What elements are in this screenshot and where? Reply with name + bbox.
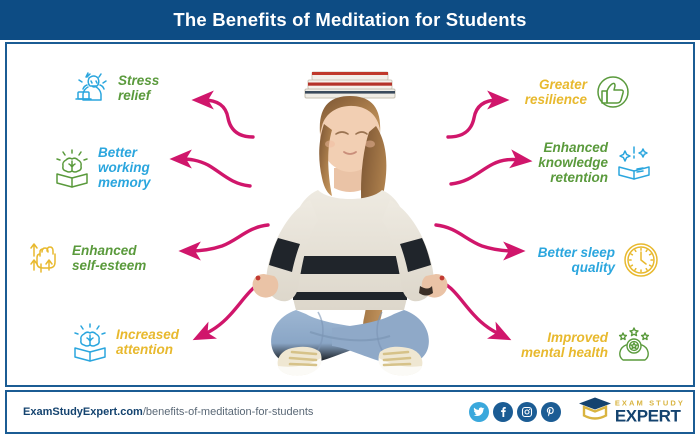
- pinterest-icon[interactable]: [541, 402, 561, 422]
- thumbs-up-circle-icon: [593, 72, 633, 112]
- benefit-label: Better sleep quality: [520, 245, 615, 275]
- meditating-student-photo: [248, 60, 453, 387]
- url-domain: ExamStudyExpert.com: [23, 406, 143, 418]
- benefit-label: Greater resilience: [502, 77, 587, 107]
- footer-bar: ExamStudyExpert.com/benefits-of-meditati…: [5, 390, 695, 434]
- facebook-icon[interactable]: [493, 402, 513, 422]
- infographic-poster: The Benefits of Meditation for Students: [0, 0, 700, 438]
- benefit-label: Improved mental health: [500, 330, 608, 360]
- benefit-label: Better working memory: [98, 145, 151, 190]
- sparkling-book-icon: [614, 143, 654, 183]
- brain-book-icon: [52, 148, 92, 188]
- stressed-person-laptop-icon: [72, 68, 112, 108]
- benefit-label: Enhanced knowledge retention: [508, 140, 608, 185]
- brain-book-icon: [70, 322, 110, 362]
- page-title: The Benefits of Meditation for Students: [0, 0, 700, 40]
- header-bar: The Benefits of Meditation for Students: [0, 0, 700, 40]
- brand-logo[interactable]: EXAM STUDY EXPERT: [578, 397, 685, 428]
- url-path: /benefits-of-meditation-for-students: [143, 406, 314, 418]
- benefit-better-sleep-quality[interactable]: Better sleep quality: [520, 240, 661, 280]
- social-links: [469, 402, 561, 422]
- benefit-greater-resilience[interactable]: Greater resilience: [502, 72, 633, 112]
- benefit-label: Increased attention: [116, 327, 179, 357]
- benefit-enhanced-knowledge-retention[interactable]: Enhanced knowledge retention: [508, 140, 654, 185]
- instagram-icon[interactable]: [517, 402, 537, 422]
- graduation-cap-icon: [578, 397, 612, 428]
- fist-arrows-icon: [26, 238, 66, 278]
- benefit-increased-attention[interactable]: Increased attention: [70, 322, 179, 362]
- benefit-label: Enhanced self-esteem: [72, 243, 146, 273]
- benefit-label: Stress relief: [118, 73, 159, 103]
- benefit-better-working-memory[interactable]: Better working memory: [52, 145, 151, 190]
- benefit-stress-relief[interactable]: Stress relief: [72, 68, 159, 108]
- benefit-improved-mental-health[interactable]: Improved mental health: [500, 325, 654, 365]
- hands-star-medal-icon: [614, 325, 654, 365]
- source-url[interactable]: ExamStudyExpert.com/benefits-of-meditati…: [23, 406, 313, 418]
- benefit-enhanced-self-esteem[interactable]: Enhanced self-esteem: [26, 238, 146, 278]
- twitter-icon[interactable]: [469, 402, 489, 422]
- clock-icon: [621, 240, 661, 280]
- logo-bottom-text: EXPERT: [615, 407, 685, 424]
